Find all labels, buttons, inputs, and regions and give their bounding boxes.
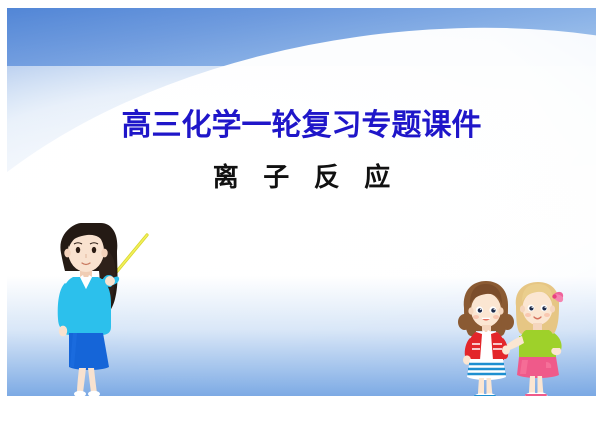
teacher-left-hand	[59, 326, 67, 337]
slide-page: 高三化学一轮复习专题课件 离 子 反 应	[0, 0, 600, 424]
kid-right-blonde	[503, 282, 563, 396]
kid-left-brunette	[458, 281, 514, 396]
slide-title: 高三化学一轮复习专题课件	[7, 111, 596, 141]
slide-subtitle: 离 子 反 应	[7, 165, 596, 191]
presentation-slide: 高三化学一轮复习专题课件 离 子 反 应	[7, 8, 596, 396]
teacher-illustration	[43, 223, 159, 396]
slide-text-block: 高三化学一轮复习专题课件 离 子 反 应	[7, 111, 596, 191]
teacher-legs	[77, 368, 97, 393]
teacher-right-hand	[105, 276, 115, 286]
kids-illustration	[450, 280, 578, 396]
teacher-shoes	[74, 391, 100, 396]
